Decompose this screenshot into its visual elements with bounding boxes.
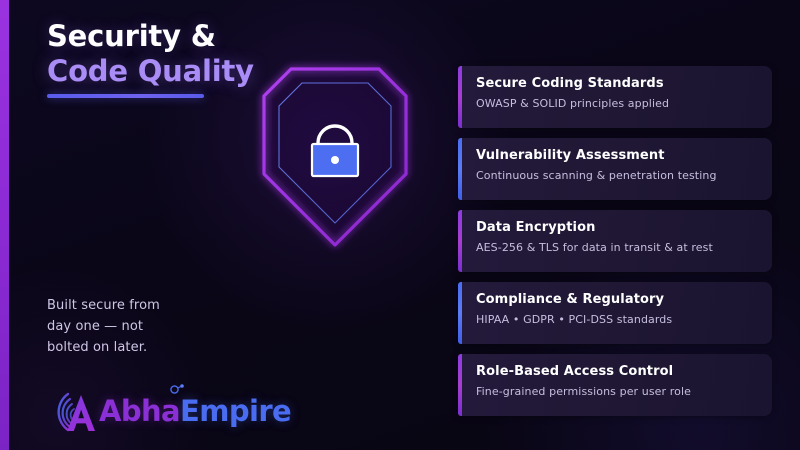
feature-card-list: Secure Coding Standards OWASP & SOLID pr… xyxy=(458,66,772,426)
feature-card[interactable]: Secure Coding Standards OWASP & SOLID pr… xyxy=(458,66,772,128)
tagline-line-2: day one — not xyxy=(47,316,160,337)
card-title: Role-Based Access Control xyxy=(476,364,758,380)
title-underline xyxy=(47,94,204,98)
card-accent-bar xyxy=(458,210,462,272)
tagline-line-1: Built secure from xyxy=(47,295,160,316)
title-line-primary: Security & xyxy=(47,20,254,53)
feature-card[interactable]: Vulnerability Assessment Continuous scan… xyxy=(458,138,772,200)
lock-keyhole-icon xyxy=(331,156,339,164)
feature-card[interactable]: Data Encryption AES-256 & TLS for data i… xyxy=(458,210,772,272)
logo-text-empire: Empire xyxy=(180,394,291,428)
card-subtitle: Continuous scanning & penetration testin… xyxy=(476,169,758,183)
logo-wordmark: AbhaEmpire xyxy=(99,389,291,433)
logo-orbit-node-icon xyxy=(169,382,186,396)
left-accent-bar xyxy=(0,0,9,450)
card-accent-bar xyxy=(458,138,462,200)
feature-card[interactable]: Compliance & Regulatory HIPAA • GDPR • P… xyxy=(458,282,772,344)
logo-swoosh-a-icon xyxy=(46,389,102,433)
card-accent-bar xyxy=(458,354,462,416)
card-subtitle: OWASP & SOLID principles applied xyxy=(476,97,758,111)
tagline-line-3: bolted on later. xyxy=(47,337,160,358)
security-shield-lock-icon xyxy=(250,55,420,255)
card-title: Vulnerability Assessment xyxy=(476,148,758,164)
card-subtitle: AES-256 & TLS for data in transit & at r… xyxy=(476,241,758,255)
card-title: Compliance & Regulatory xyxy=(476,292,758,308)
card-subtitle: Fine-grained permissions per user role xyxy=(476,385,758,399)
page-title: Security & Code Quality xyxy=(47,20,254,98)
card-subtitle: HIPAA • GDPR • PCI-DSS standards xyxy=(476,313,758,327)
brand-logo: AbhaEmpire xyxy=(46,389,291,433)
card-title: Data Encryption xyxy=(476,220,758,236)
slide-canvas: Security & Code Quality xyxy=(0,0,800,450)
card-title: Secure Coding Standards xyxy=(476,76,758,92)
title-line-secondary: Code Quality xyxy=(47,55,254,88)
feature-card[interactable]: Role-Based Access Control Fine-grained p… xyxy=(458,354,772,416)
card-accent-bar xyxy=(458,66,462,128)
tagline: Built secure from day one — not bolted o… xyxy=(47,295,160,358)
card-accent-bar xyxy=(458,282,462,344)
logo-text-abha: Abha xyxy=(99,394,180,428)
